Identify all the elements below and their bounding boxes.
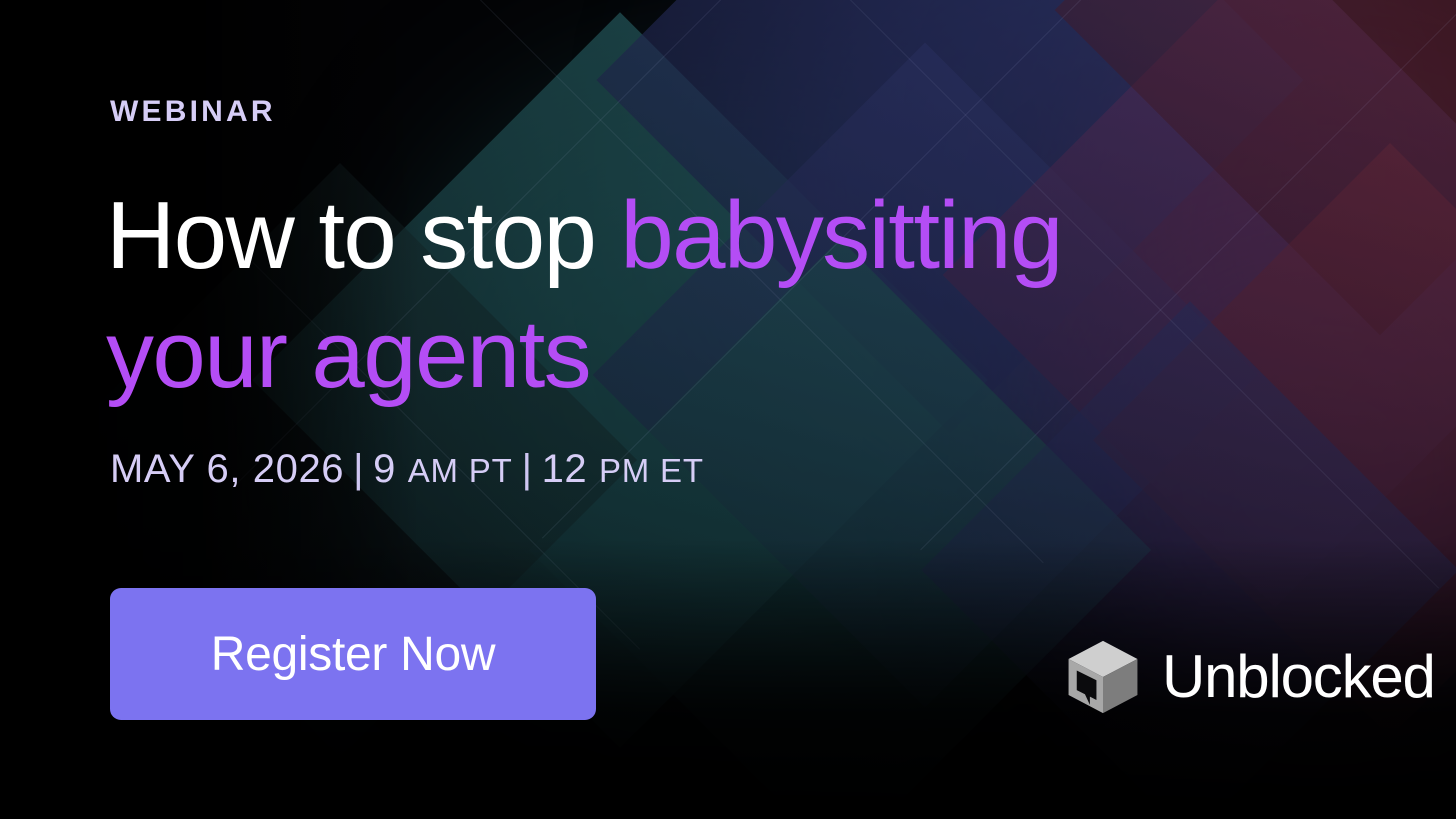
webinar-promo-banner: WEBINAR How to stop babysittingyour agen… bbox=[0, 0, 1456, 819]
event-time-et-number: 12 bbox=[542, 447, 599, 491]
register-now-button[interactable]: Register Now bbox=[110, 588, 596, 720]
unblocked-cube-icon bbox=[1062, 636, 1144, 718]
datetime-separator-1: | bbox=[353, 447, 364, 491]
headline-plain-text: How to stop bbox=[106, 182, 620, 289]
event-time-pt-number: 9 bbox=[373, 447, 408, 491]
datetime-separator-2: | bbox=[522, 447, 533, 491]
event-datetime: MAY 6, 2026|9 AM PT|12 PM ET bbox=[110, 447, 704, 491]
event-time-pt-meridiem: AM PT bbox=[408, 452, 513, 489]
event-time-et-meridiem: PM ET bbox=[599, 452, 704, 489]
brand-logo-lockup[interactable]: Unblocked bbox=[1062, 636, 1435, 718]
page-title: How to stop babysittingyour agents bbox=[106, 176, 1286, 414]
brand-wordmark: Unblocked bbox=[1162, 647, 1435, 707]
headline-accent-babysitting: babysitting bbox=[620, 182, 1061, 289]
event-date: MAY 6, 2026 bbox=[110, 447, 344, 491]
eyebrow-label: WEBINAR bbox=[110, 97, 276, 127]
headline-accent-your-agents: your agents bbox=[106, 301, 590, 408]
